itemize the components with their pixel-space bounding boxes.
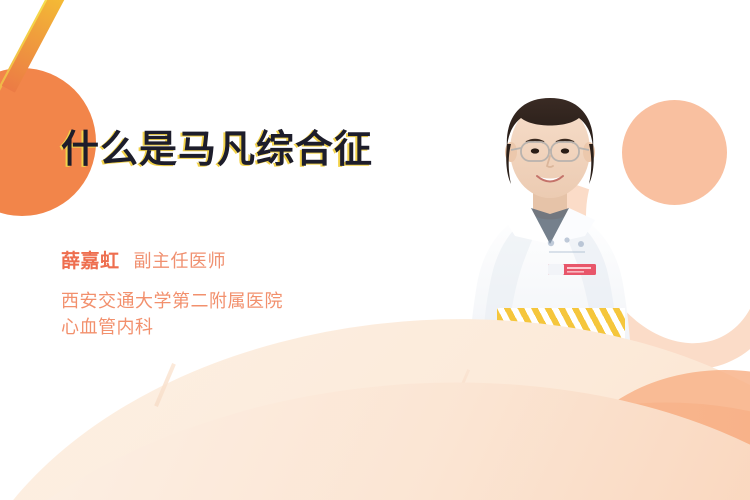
wave-strong-decor [230, 354, 750, 500]
arc-mask [700, 60, 750, 260]
video-title: 什么是马凡综合征 [61, 118, 373, 173]
hairline-right-decor [451, 369, 470, 409]
presenter-name: 薛嘉虹 [61, 251, 120, 272]
hairline-left-decor [154, 363, 176, 407]
thumbnail-canvas: 什么是马凡综合征 薛嘉虹副主任医师 西安交通大学第二附属医院 心血管内科 [0, 0, 750, 500]
name-badge-icon [548, 264, 596, 275]
thin-yellow-stripe-decor [0, 0, 66, 100]
presenter-credits: 薛嘉虹副主任医师 [61, 246, 226, 273]
presenter-hospital: 西安交通大学第二附属医院 [61, 288, 283, 314]
diagonal-gradient-stripe-decor [2, 0, 86, 93]
presenter-affiliation: 西安交通大学第二附属医院 心血管内科 [61, 288, 283, 340]
presenter-rank: 副主任医师 [134, 251, 227, 271]
wave-blob-decor [560, 370, 750, 500]
presenter-department: 心血管内科 [61, 314, 283, 340]
presenter-photo [455, 88, 645, 373]
